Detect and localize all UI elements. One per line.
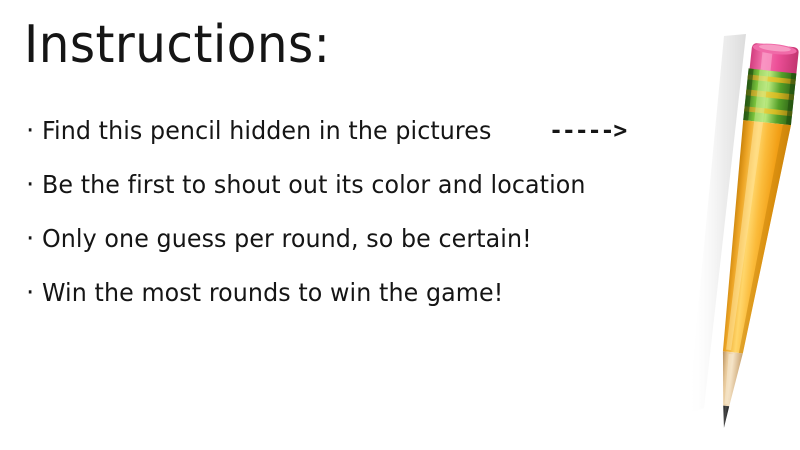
pencil-group <box>711 42 799 432</box>
instructions-list: · Find this pencil hidden in the picture… <box>26 116 686 332</box>
bullet-dot-icon: · <box>26 170 42 200</box>
pencil-graphite-tip <box>721 406 729 429</box>
list-item-label: Only one guess per round, so be certain! <box>42 224 532 254</box>
pencil-sharpened-wood <box>717 351 743 407</box>
arrow-right-icon: -----> <box>549 116 626 146</box>
list-item-label: Be the first to shout out its color and … <box>42 170 586 200</box>
pencil-body <box>719 120 791 356</box>
page-title: Instructions: <box>24 18 330 73</box>
bullet-dot-icon: · <box>26 278 42 308</box>
list-item: · Be the first to shout out its color an… <box>26 170 686 224</box>
list-item: · Only one guess per round, so be certai… <box>26 224 686 278</box>
instructions-slide: Instructions: · Find this pencil hidden … <box>0 0 800 450</box>
list-item: · Find this pencil hidden in the picture… <box>26 116 686 170</box>
list-item-label: Win the most rounds to win the game! <box>42 278 503 308</box>
bullet-dot-icon: · <box>26 224 42 254</box>
pencil-ferrule <box>743 68 796 125</box>
bullet-dot-icon: · <box>26 116 42 146</box>
list-item: · Win the most rounds to win the game! <box>26 278 686 332</box>
list-item-label: Find this pencil hidden in the pictures <box>42 116 491 146</box>
pencil-eraser <box>750 42 800 75</box>
pencil-shadow <box>688 34 746 414</box>
